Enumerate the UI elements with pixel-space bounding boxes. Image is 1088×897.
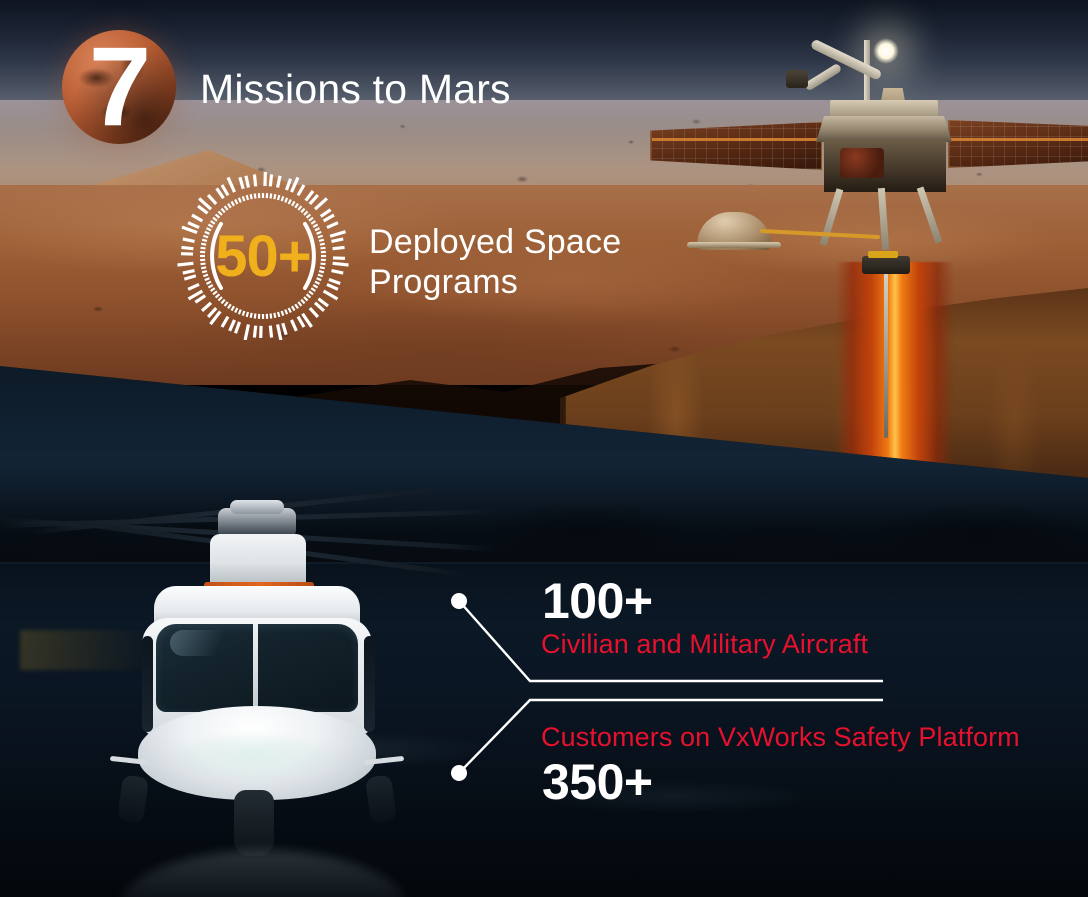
- infographic-canvas: 7 Missions to Mars 50+ Deployed Space Pr…: [0, 0, 1088, 897]
- dial-ring-icon: 50+: [163, 172, 363, 340]
- stat-aircraft-value: 100+: [542, 576, 653, 626]
- overlay-graphics-layer: 7 Missions to Mars 50+ Deployed Space Pr…: [0, 0, 1088, 897]
- stat-customers-label: Customers on VxWorks Safety Platform: [541, 724, 1020, 751]
- stat-programs-value: 50+: [163, 172, 363, 340]
- stat-programs-label: Deployed Space Programs: [369, 222, 621, 302]
- stat-programs-label-line1: Deployed Space: [369, 222, 621, 262]
- stat-aircraft-label: Civilian and Military Aircraft: [541, 631, 868, 658]
- stat-programs-label-line2: Programs: [369, 262, 621, 302]
- stat-missions-label: Missions to Mars: [200, 66, 511, 113]
- stat-customers-value: 350+: [542, 757, 653, 807]
- stat-missions-value: 7: [62, 22, 176, 152]
